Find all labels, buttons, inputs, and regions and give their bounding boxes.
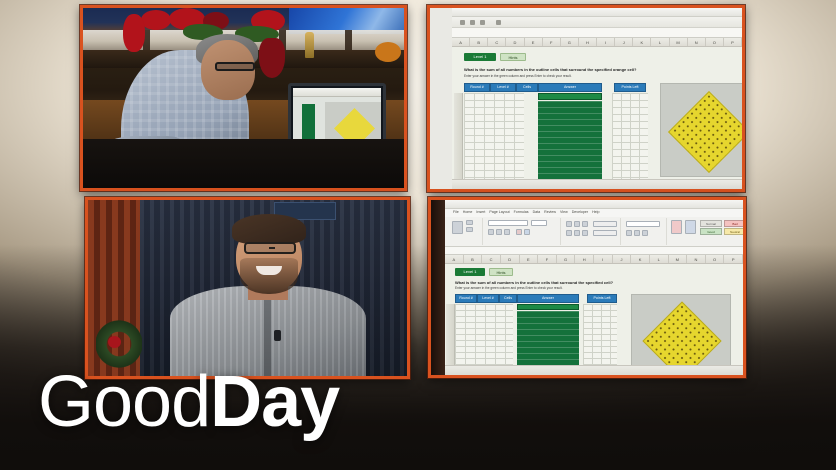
anchor-glasses-icon xyxy=(215,62,255,71)
excel-worksheet[interactable]: Level 1 Hints What is the sum of all num… xyxy=(445,264,743,365)
ribbon-tab-strip[interactable]: File Home Insert Page Layout Formulas Da… xyxy=(445,209,743,216)
hints-button[interactable]: Hints xyxy=(489,268,513,276)
level-button[interactable]: Level 1 xyxy=(455,268,485,276)
guest-beard xyxy=(240,258,298,294)
column-header[interactable]: G xyxy=(561,38,579,46)
column-header[interactable]: M xyxy=(670,38,688,46)
question-title: What is the sum of all numbers in the ou… xyxy=(464,67,636,72)
column-header[interactable]: I xyxy=(597,38,615,46)
ribbon-tab[interactable]: Data xyxy=(533,209,541,216)
currency-icon[interactable] xyxy=(626,230,632,236)
conditional-formatting-icon[interactable] xyxy=(671,220,682,234)
excel-title-bar[interactable] xyxy=(445,200,743,209)
align-top-icon[interactable] xyxy=(566,221,572,227)
holiday-floral xyxy=(375,42,401,62)
column-header[interactable]: D xyxy=(506,38,524,46)
column-header[interactable]: A xyxy=(445,255,464,263)
column-header[interactable]: G xyxy=(557,255,576,263)
comma-icon[interactable] xyxy=(642,230,648,236)
column-header[interactable]: N xyxy=(688,38,706,46)
italic-icon[interactable] xyxy=(496,229,502,235)
screen-bezel xyxy=(431,200,445,375)
excel-window: A B C D E F G H I J K L M N O P Level 1 … xyxy=(430,8,742,189)
column-header[interactable]: H xyxy=(579,38,597,46)
cell-style-normal[interactable]: Normal xyxy=(700,220,722,227)
column-header[interactable]: J xyxy=(615,38,633,46)
monitor-screen-toolbar xyxy=(293,88,381,97)
answer-input-cell[interactable] xyxy=(517,304,579,310)
ribbon-tab[interactable]: Home xyxy=(463,209,473,216)
table-header: Answer xyxy=(517,294,579,303)
station-logo: GoodDay xyxy=(38,366,339,438)
question-subtitle: Enter your answer in the green column an… xyxy=(455,286,563,290)
column-header[interactable]: B xyxy=(464,255,483,263)
hints-button[interactable]: Hints xyxy=(500,53,526,61)
panel-studio-desk[interactable] xyxy=(80,5,407,191)
poinsettia-cluster xyxy=(259,38,285,78)
diamond-grid-graphic xyxy=(668,91,745,173)
ribbon-tab[interactable]: Developer xyxy=(572,209,588,216)
table-header: Level # xyxy=(490,83,516,92)
santa-figure xyxy=(123,14,145,52)
column-header[interactable]: O xyxy=(706,255,725,263)
column-header[interactable]: L xyxy=(650,255,669,263)
rail-post xyxy=(345,30,352,50)
desk-shadow xyxy=(83,139,404,191)
excel-formula-bar[interactable] xyxy=(452,28,742,38)
ribbon-tab[interactable]: Help xyxy=(592,209,599,216)
cell-style-good[interactable]: Good xyxy=(700,228,722,235)
panel-excel-ribbon[interactable]: File Home Insert Page Layout Formulas Da… xyxy=(428,197,746,378)
column-header[interactable]: P xyxy=(724,38,742,46)
align-right-icon[interactable] xyxy=(582,230,588,236)
column-header[interactable]: F xyxy=(543,38,561,46)
percent-icon[interactable] xyxy=(634,230,640,236)
table-header: Cells xyxy=(516,83,538,92)
table-header: Points Left xyxy=(614,83,646,92)
column-header[interactable]: P xyxy=(724,255,743,263)
wreath-berry xyxy=(108,336,121,348)
lapel-mic-icon xyxy=(274,330,281,341)
cell-style-bad[interactable]: Bad xyxy=(724,220,746,227)
underline-icon[interactable] xyxy=(504,229,510,235)
excel-ribbon[interactable]: File Home Insert Page Layout Formulas Da… xyxy=(445,209,743,247)
column-header[interactable]: I xyxy=(594,255,613,263)
answer-input-cell[interactable] xyxy=(538,93,602,100)
column-header[interactable]: E xyxy=(520,255,539,263)
save-icon[interactable] xyxy=(460,20,465,25)
ribbon-tab[interactable]: File xyxy=(453,209,459,216)
excel-formula-bar[interactable] xyxy=(445,247,743,255)
worksheet-cells-right[interactable] xyxy=(612,93,648,192)
poinsettia-flower xyxy=(141,10,171,30)
excel-status-bar xyxy=(445,365,743,375)
panel-guest-interview[interactable] xyxy=(85,197,410,379)
table-header: Round # xyxy=(455,294,477,303)
redo-icon[interactable] xyxy=(480,20,485,25)
column-header[interactable]: M xyxy=(669,255,688,263)
table-header: Level # xyxy=(477,294,499,303)
ribbon-group-styles[interactable]: Normal Bad Check Cell Good Neutral Note xyxy=(669,218,746,245)
table-header: Round # xyxy=(464,83,490,92)
font-color-icon[interactable] xyxy=(524,229,530,235)
column-header[interactable]: E xyxy=(525,38,543,46)
ribbon-tab[interactable]: Insert xyxy=(476,209,485,216)
merge-cells-button[interactable] xyxy=(593,230,617,236)
ribbon-tab[interactable]: Formulas xyxy=(514,209,529,216)
column-header[interactable]: D xyxy=(501,255,520,263)
excel-title-bar[interactable] xyxy=(452,8,742,17)
column-header[interactable]: K xyxy=(633,38,651,46)
align-left-icon[interactable] xyxy=(566,230,572,236)
wrap-text-button[interactable] xyxy=(593,221,617,227)
column-header[interactable]: H xyxy=(575,255,594,263)
table-header: Points Left xyxy=(587,294,617,303)
ribbon-group-alignment[interactable] xyxy=(563,218,621,245)
level-button[interactable]: Level 1 xyxy=(464,53,496,61)
table-header: Cells xyxy=(499,294,517,303)
column-header[interactable]: O xyxy=(706,38,724,46)
undo-icon[interactable] xyxy=(470,20,475,25)
ribbon-tab[interactable]: Page Layout xyxy=(489,209,509,216)
cut-icon[interactable] xyxy=(466,220,473,225)
column-header[interactable]: B xyxy=(470,38,488,46)
cell-style-neutral[interactable]: Neutral xyxy=(724,228,746,235)
trophy-icon xyxy=(305,32,314,58)
ribbon-tab[interactable]: Review xyxy=(544,209,556,216)
column-header[interactable]: L xyxy=(651,38,669,46)
question-title: What is the sum of all numbers in the ou… xyxy=(455,280,613,285)
excel-status-bar xyxy=(452,179,742,189)
guest-hair xyxy=(232,214,306,244)
worksheet-cells-left[interactable] xyxy=(464,93,524,192)
ribbon-group-font[interactable] xyxy=(485,218,561,245)
excel-column-headers: A B C D E F G H I J K L M N O P xyxy=(445,255,743,264)
row-headers[interactable] xyxy=(454,93,463,192)
excel-quick-access-toolbar[interactable] xyxy=(452,17,742,28)
excel-window: File Home Insert Page Layout Formulas Da… xyxy=(431,200,743,375)
bold-icon[interactable] xyxy=(488,229,494,235)
panel-excel-classic[interactable]: A B C D E F G H I J K L M N O P Level 1 … xyxy=(427,5,745,192)
column-header[interactable]: F xyxy=(538,255,557,263)
format-as-table-icon[interactable] xyxy=(685,220,696,234)
align-bottom-icon[interactable] xyxy=(582,221,588,227)
chart-area xyxy=(660,83,745,177)
ribbon-group-number[interactable] xyxy=(623,218,667,245)
ribbon-group-clipboard[interactable] xyxy=(449,218,483,245)
guest-glasses-icon xyxy=(244,242,296,254)
table-header: Answer xyxy=(538,83,602,92)
wreath-decoration xyxy=(96,320,142,368)
number-format-select[interactable] xyxy=(626,221,660,227)
align-middle-icon[interactable] xyxy=(574,221,580,227)
logo-good: Good xyxy=(38,362,210,442)
column-header[interactable]: C xyxy=(488,38,506,46)
ribbon-tab[interactable]: View xyxy=(560,209,568,216)
fill-color-icon[interactable] xyxy=(516,229,522,235)
align-center-icon[interactable] xyxy=(574,230,580,236)
column-header[interactable]: C xyxy=(482,255,501,263)
question-subtitle: Enter your answer in the green column an… xyxy=(464,74,572,78)
column-header[interactable]: N xyxy=(687,255,706,263)
font-name-box[interactable] xyxy=(488,220,528,226)
broadcast-screenshot: GoodDay xyxy=(0,0,836,470)
paste-icon[interactable] xyxy=(452,221,463,234)
font-size-box[interactable] xyxy=(531,220,547,226)
column-header[interactable]: A xyxy=(452,38,470,46)
column-header[interactable]: J xyxy=(613,255,632,263)
excel-worksheet[interactable]: Level 1 Hints What is the sum of all num… xyxy=(452,47,742,179)
column-header[interactable]: K xyxy=(631,255,650,263)
autosum-icon[interactable] xyxy=(496,20,501,25)
logo-day: Day xyxy=(210,362,339,442)
excel-column-headers: A B C D E F G H I J K L M N O P xyxy=(452,38,742,47)
copy-icon[interactable] xyxy=(466,227,473,232)
